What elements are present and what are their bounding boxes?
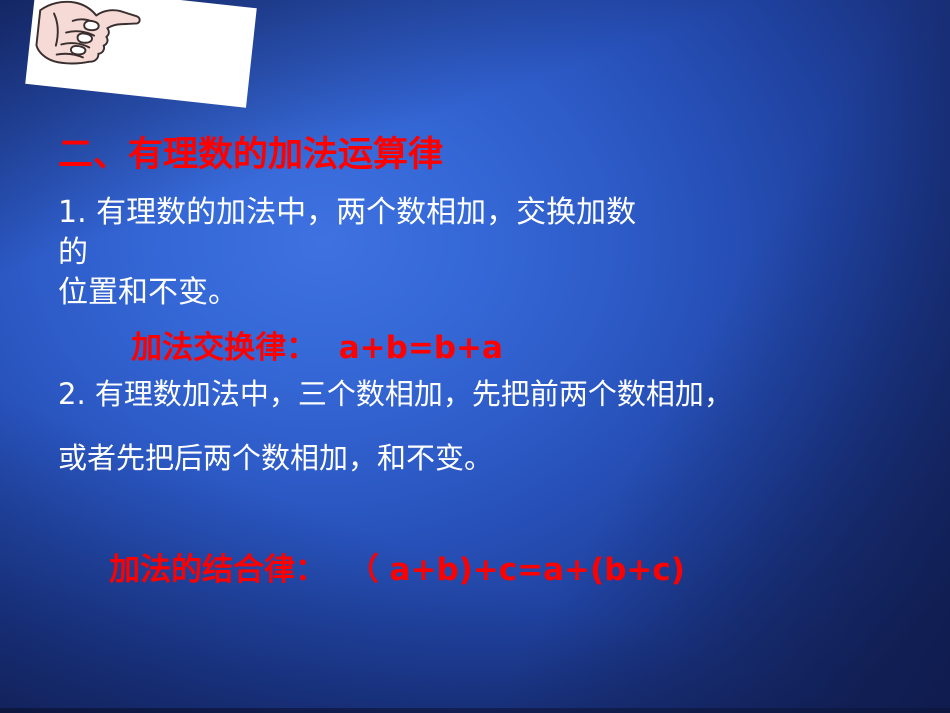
commutative-law-line: 加法交换律： a+b=b+a [88, 302, 503, 395]
section-heading: 二、有理数的加法运算律 [58, 138, 443, 173]
commutative-law-label: 加法交换律： [131, 330, 317, 366]
presentation-slide: 二、有理数的加法运算律 1. 有理数的加法中，两个数相加，交换加数 的 位置和不… [0, 0, 950, 713]
commutative-law-formula: a+b=b+a [339, 330, 503, 366]
associative-law-label: 加法的结合律： [109, 552, 326, 588]
rule1-line1: 1. 有理数的加法中，两个数相加，交换加数 [58, 198, 636, 228]
rule2-line2: 或者先把后两个数相加，和不变。 [58, 444, 493, 473]
pointing-hand-icon [30, 0, 147, 90]
pointing-hand-card [25, 0, 257, 108]
rule1-line2: 的 [58, 238, 88, 268]
associative-law-formula: （ a+b)+c=a+(b+c) [348, 552, 685, 588]
associative-law-line: 加法的结合律： （ a+b)+c=a+(b+c) [66, 524, 685, 617]
